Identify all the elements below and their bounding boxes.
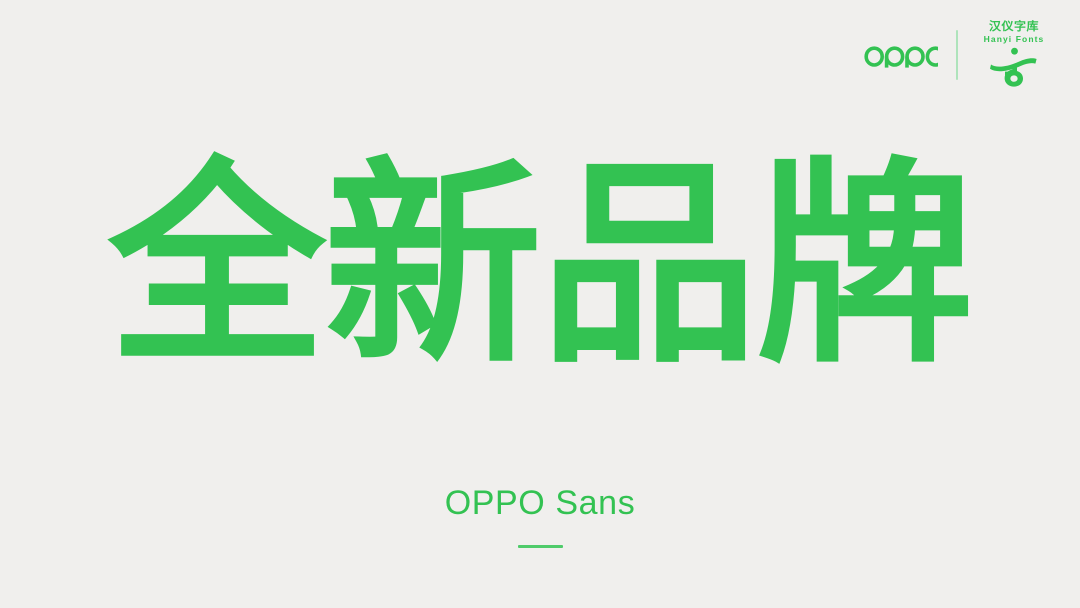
vertical-divider [956, 30, 958, 80]
subtitle-text: OPPO Sans [445, 483, 636, 523]
hanyi-chinese-name: 汉仪字库 [989, 20, 1039, 32]
page-title: 全新品牌 [0, 148, 1080, 386]
subtitle-underline-rule [518, 545, 563, 548]
presentation-slide: 汉仪字库 Hanyi Fonts 全新品牌 [0, 0, 1080, 608]
hanyi-fonts-logo: 汉仪字库 Hanyi Fonts [976, 18, 1052, 92]
oppo-logo [856, 18, 942, 92]
brand-logo-lockup: 汉仪字库 Hanyi Fonts [856, 18, 1052, 92]
hanyi-zi-brush-glyph-icon [988, 47, 1040, 87]
subtitle-block: OPPO Sans [0, 483, 1080, 548]
oppo-wordmark-icon [864, 42, 938, 68]
hanyi-english-name: Hanyi Fonts [984, 34, 1045, 45]
